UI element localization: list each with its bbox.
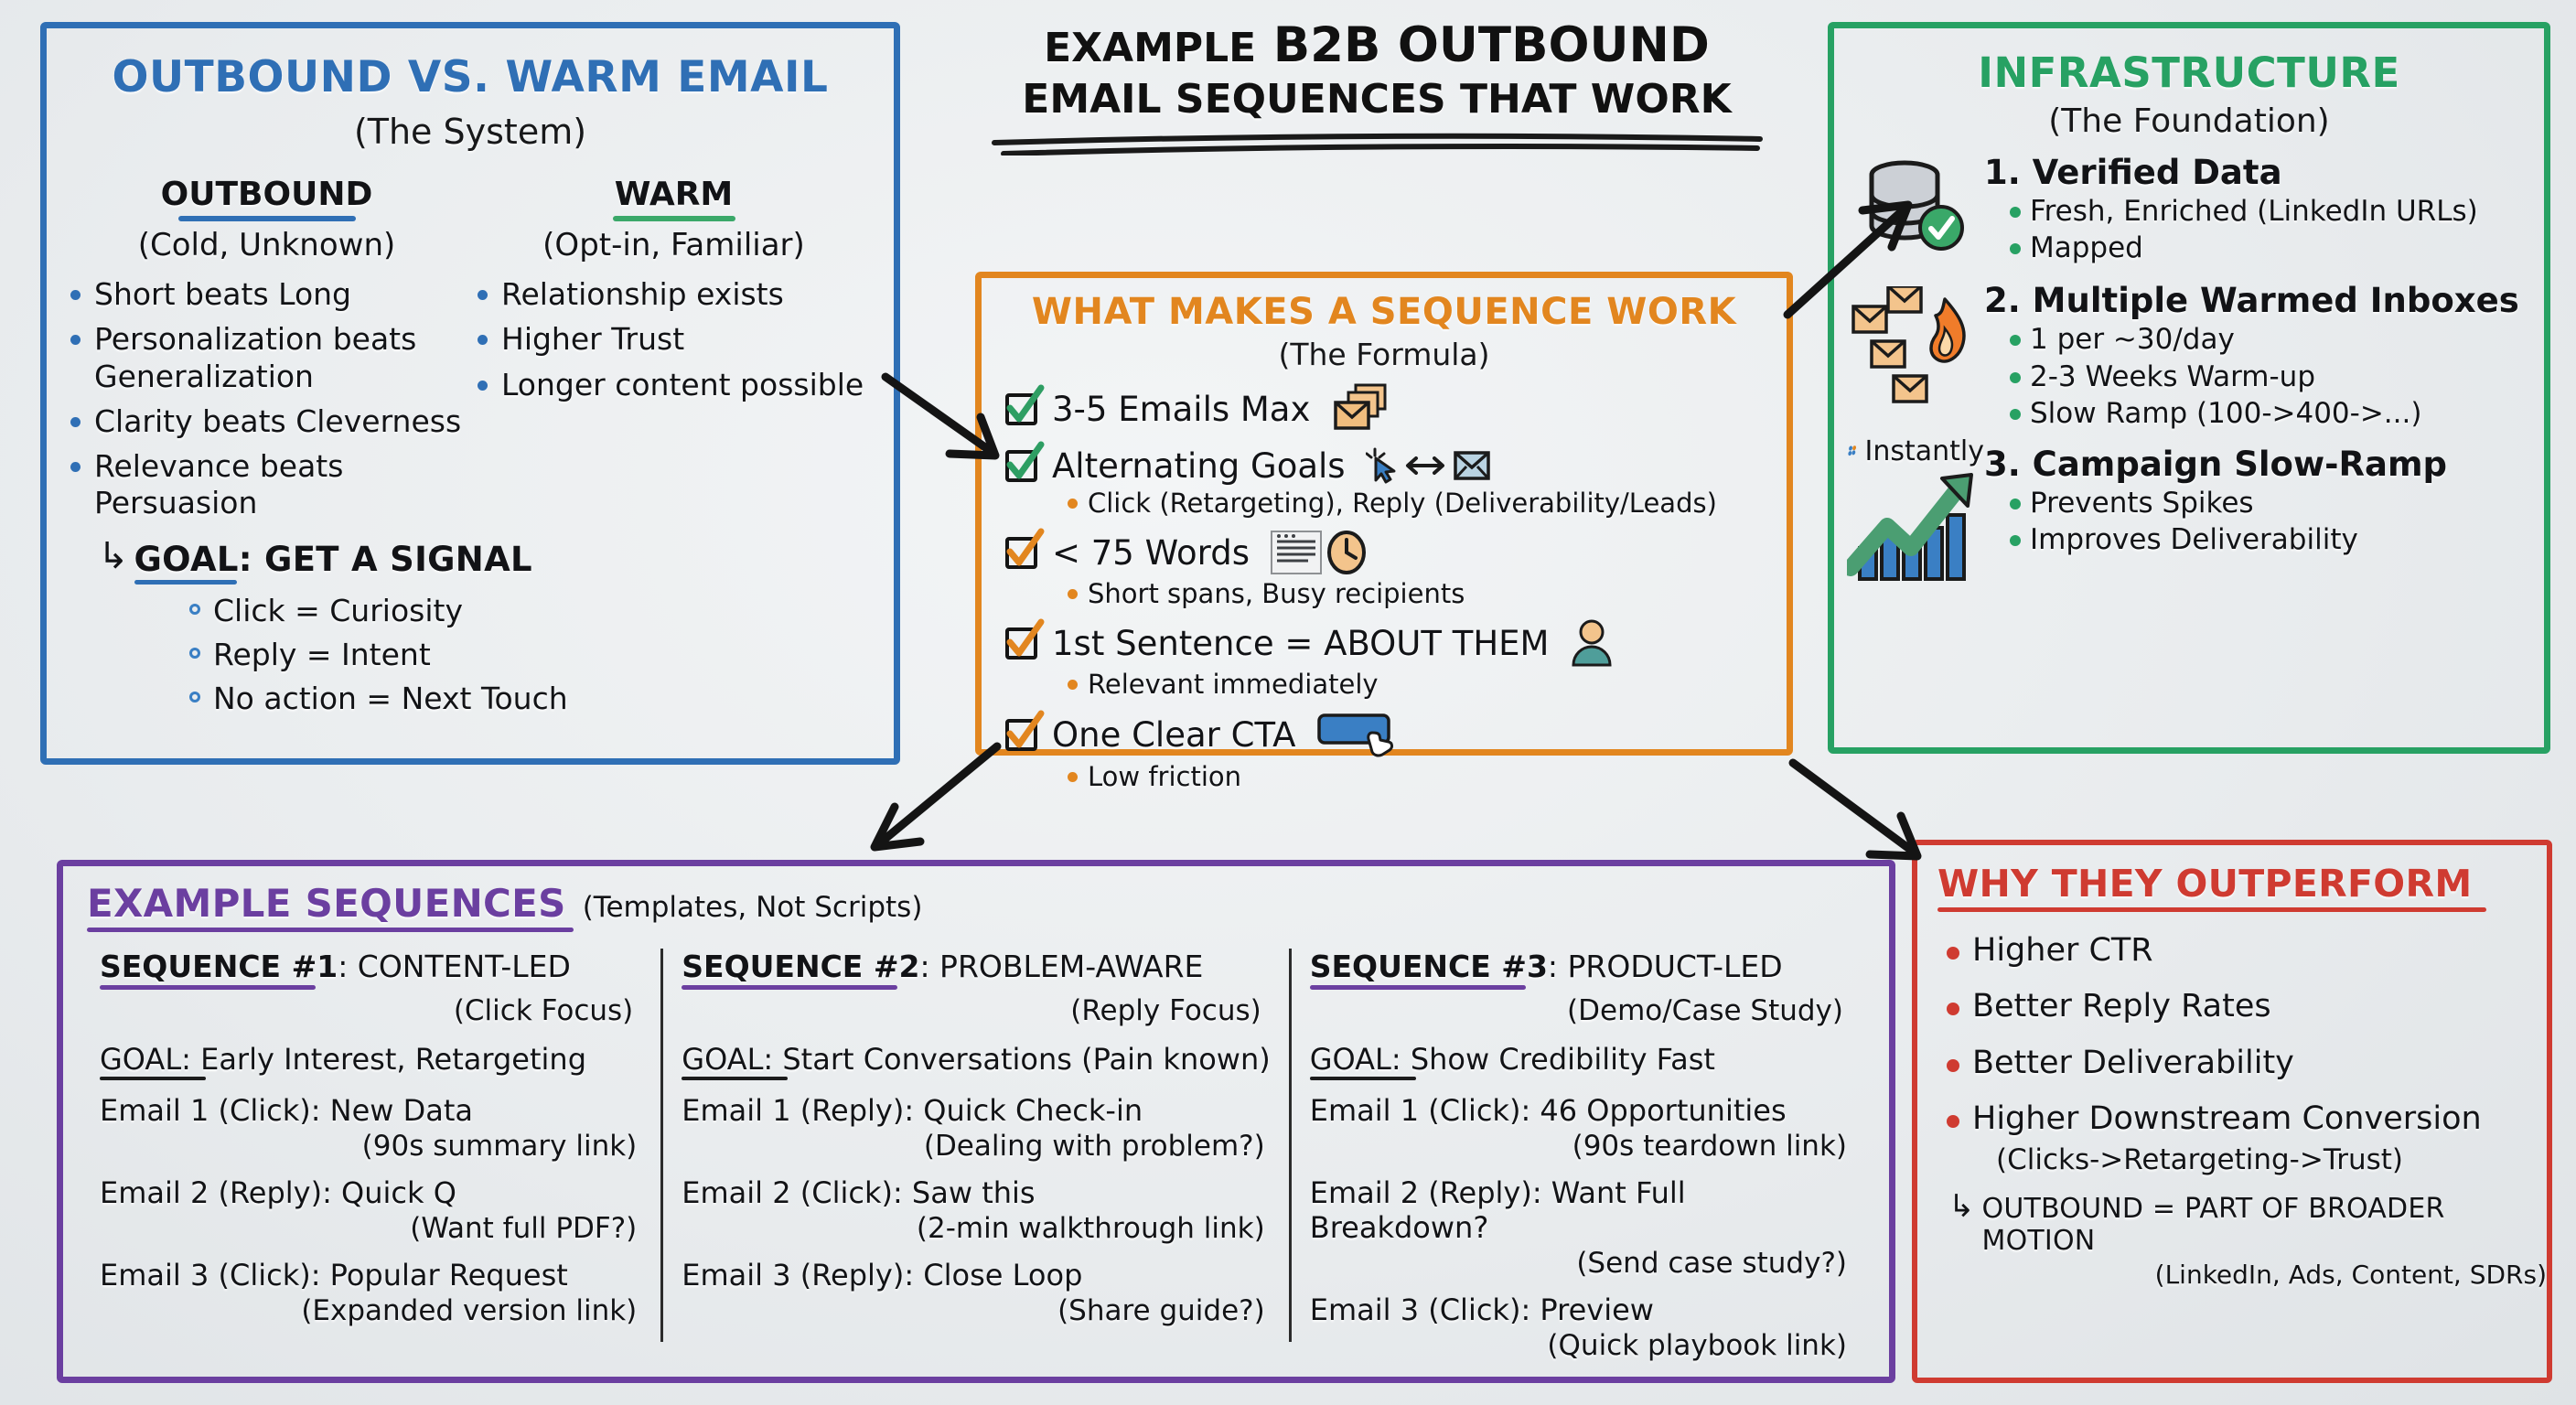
list-item: Low friction — [1062, 761, 1787, 792]
example-sequences-panel: EXAMPLE SEQUENCES (Templates, Not Script… — [57, 860, 1895, 1383]
sequence-title-label: SEQUENCE #1 — [100, 949, 338, 984]
sequences-heading-paren: (Templates, Not Scripts) — [583, 891, 923, 924]
sequence-title-underline — [682, 985, 897, 990]
infrastructure-panel: INFRASTRUCTURE (The Foundation) 1. Verif… — [1828, 22, 2550, 754]
sequence-title-label: SEQUENCE #3 — [1310, 949, 1548, 984]
sequences-heading-underline — [87, 928, 574, 932]
infrastructure-item: Instantly 3. Campaign Slow-Ramp Prevents… — [1834, 435, 2544, 588]
instantly-logo-icon — [1847, 435, 1858, 467]
sequence-email-line: Email 3 (Click): Popular Request — [100, 1258, 642, 1292]
warm-underline — [613, 216, 735, 221]
sequence-column-3: SEQUENCE #3: PRODUCT-LED (Demo/Case Stud… — [1289, 949, 1871, 1342]
document-clock-icon — [1270, 529, 1367, 576]
sequence-goal-label: GOAL — [100, 1042, 181, 1077]
list-item: Prevents Spikes — [2004, 487, 2544, 520]
sequence-title-rest: : CONTENT-LED — [338, 949, 571, 984]
arrow-hook-icon: ↳ — [98, 540, 129, 573]
arrow-center-to-why — [1784, 756, 1967, 893]
checklist-label: One Clear CTA — [1052, 715, 1296, 755]
arrow-center-to-infrastructure — [1775, 179, 1958, 326]
page-title: EXAMPLE B2B OUTBOUND EMAIL SEQUENCES THA… — [933, 20, 1820, 159]
list-item: Clarity beats Cleverness — [63, 403, 470, 440]
infrastructure-bullets: Fresh, Enriched (LinkedIn URLs) Mapped — [2004, 195, 2544, 265]
checklist-subnote-list: Relevant immediately — [1062, 669, 1787, 700]
sequence-title-rest: : PROBLEM-AWARE — [919, 949, 1203, 984]
checkbox-icon[interactable] — [1005, 537, 1037, 569]
outbound-vs-warm-panel: OUTBOUND VS. WARM EMAIL (The System) OUT… — [40, 22, 900, 765]
outbound-bullet-list: Short beats Long Personalization beats G… — [63, 276, 470, 522]
checklist-label: 3-5 Emails Max — [1052, 390, 1310, 429]
sequence-email-paren: (Share guide?) — [682, 1294, 1270, 1327]
checklist-label: Alternating Goals — [1052, 446, 1346, 486]
title-word-outbound: OUTBOUND — [1398, 17, 1710, 73]
why-they-outperform-panel: WHY THEY OUTPERFORM Higher CTR Better Re… — [1912, 840, 2552, 1383]
sequence-email-paren: (2-min walkthrough link) — [682, 1212, 1270, 1245]
arrow-center-to-sequences — [860, 741, 1061, 887]
why-footer-row: ↳ OUTBOUND = PART OF BROADER MOTION (Lin… — [1948, 1193, 2547, 1290]
right-panel-subheading: (The Foundation) — [1834, 102, 2544, 140]
checklist-label: < 75 Words — [1052, 533, 1250, 573]
sequence-email-paren: (90s teardown link) — [1310, 1130, 1852, 1163]
sequence-goal-underline — [682, 1077, 788, 1080]
arrow-left-to-center — [878, 366, 1043, 485]
sequence-column-2: SEQUENCE #2: PROBLEM-AWARE (Reply Focus)… — [660, 949, 1288, 1342]
checklist-item: < 75 Words — [1005, 529, 1787, 576]
list-item: Relevant immediately — [1062, 669, 1787, 700]
mid-panel-heading: WHAT MAKES A SEQUENCE WORK — [982, 291, 1787, 333]
title-word-example: EXAMPLE — [1044, 25, 1256, 71]
list-item: Personalization beats Generalization — [63, 321, 470, 395]
arrow-hook-icon: ↳ — [1948, 1193, 1975, 1221]
why-panel-heading: WHY THEY OUTPERFORM — [1937, 862, 2547, 906]
list-item: Click = Curiosity — [184, 592, 894, 629]
sequence-email-line: Email 3 (Click): Preview — [1310, 1292, 1852, 1327]
sequence-goal-text: : Start Conversations (Pain known) — [763, 1042, 1270, 1077]
infrastructure-item-title: 3. Campaign Slow-Ramp — [1984, 445, 2544, 484]
list-item: Short beats Long — [63, 276, 470, 313]
instantly-brand-block: Instantly — [1847, 435, 1984, 588]
list-item: Higher CTR — [1941, 932, 2547, 970]
sequence-focus: (Reply Focus) — [682, 994, 1270, 1027]
sequence-goal-label: GOAL — [1310, 1042, 1391, 1077]
sequences-heading: EXAMPLE SEQUENCES — [87, 881, 566, 926]
list-item: Click (Retargeting), Reply (Deliverabili… — [1062, 488, 1787, 519]
checklist-subnote-list: Short spans, Busy recipients — [1062, 578, 1787, 609]
sequence-goal-text: : Early Interest, Retargeting — [181, 1042, 586, 1077]
outbound-underline — [178, 216, 356, 221]
sequence-email-line: Email 1 (Click): New Data — [100, 1093, 642, 1128]
sequence-email-line: Email 2 (Reply): Want Full Breakdown? — [1310, 1175, 1852, 1245]
sequence-email-line: Email 3 (Reply): Close Loop — [682, 1258, 1270, 1292]
sequence-focus: (Click Focus) — [100, 994, 642, 1027]
outbound-column-subtitle: (Cold, Unknown) — [63, 227, 470, 263]
title-line2: EMAIL SEQUENCES THAT WORK — [1022, 76, 1731, 123]
outbound-column: OUTBOUND (Cold, Unknown) Short beats Lon… — [63, 176, 470, 531]
title-word-b2b: B2B — [1273, 17, 1381, 73]
infrastructure-item-title: 1. Verified Data — [1984, 153, 2544, 192]
what-makes-sequence-work-panel: WHAT MAKES A SEQUENCE WORK (The Formula)… — [975, 272, 1793, 756]
sequence-title-underline — [100, 985, 316, 990]
list-item: Reply = Intent — [184, 636, 894, 673]
list-item: Better Reply Rates — [1941, 988, 2547, 1025]
why-footer-paren: (LinkedIn, Ads, Content, SDRs) — [1982, 1260, 2548, 1290]
sequence-email-line: Email 2 (Reply): Quick Q — [100, 1175, 642, 1210]
goal-underline — [134, 580, 237, 585]
checkbox-icon[interactable] — [1005, 627, 1037, 660]
mid-panel-subheading: (The Formula) — [982, 337, 1787, 372]
list-item: Improves Deliverability — [2004, 523, 2544, 557]
list-item: No action = Next Touch — [184, 680, 894, 717]
sequence-email-paren: (90s summary link) — [100, 1130, 642, 1163]
instantly-label: Instantly — [1864, 435, 1984, 467]
sequence-email-paren: (Dealing with problem?) — [682, 1130, 1270, 1163]
list-item: Longer content possible — [470, 367, 877, 403]
sequence-focus: (Demo/Case Study) — [1310, 994, 1852, 1027]
checklist-item: 3-5 Emails Max — [1005, 382, 1787, 435]
outbound-column-title: OUTBOUND — [63, 176, 470, 213]
left-panel-heading: OUTBOUND VS. WARM EMAIL — [47, 52, 894, 102]
sequence-goal-label: GOAL — [682, 1042, 763, 1077]
warm-bullet-list: Relationship exists Higher Trust Longer … — [470, 276, 877, 403]
list-item: Mapped — [2004, 231, 2544, 265]
right-panel-heading: INFRASTRUCTURE — [1834, 48, 2544, 97]
checklist-item: 1st Sentence = ABOUT THEM — [1005, 619, 1787, 667]
sequence-email-paren: (Send case study?) — [1310, 1247, 1852, 1280]
sequence-email-line: Email 2 (Click): Saw this — [682, 1175, 1270, 1210]
infrastructure-item-title: 2. Multiple Warmed Inboxes — [1984, 281, 2544, 320]
goal-label: GOAL — [134, 540, 239, 579]
sequence-title-underline — [1310, 985, 1526, 990]
warm-column: WARM (Opt-in, Familiar) Relationship exi… — [470, 176, 877, 531]
sequence-email-line: Email 1 (Click): 46 Opportunities — [1310, 1093, 1852, 1128]
list-item: Relationship exists — [470, 276, 877, 313]
sequence-email-paren: (Quick playbook link) — [1310, 1329, 1852, 1362]
list-item: Higher Downstream Conversion — [1941, 1100, 2547, 1138]
stacked-envelopes-icon — [1330, 382, 1390, 435]
left-panel-subheading: (The System) — [47, 112, 894, 152]
checklist-label: 1st Sentence = ABOUT THEM — [1052, 624, 1549, 663]
checklist-subnote-list: Low friction — [1062, 761, 1787, 792]
list-item: Higher Trust — [470, 321, 877, 358]
click-reply-icon — [1366, 445, 1494, 486]
growth-chart-icon — [1847, 469, 1982, 585]
sequence-goal-text: : Show Credibility Fast — [1391, 1042, 1715, 1077]
sequence-column-1: SEQUENCE #1: CONTENT-LED (Click Focus) G… — [81, 949, 660, 1342]
list-item: Better Deliverability — [1941, 1045, 2547, 1082]
list-item: Slow Ramp (100->400->...) — [2004, 397, 2544, 431]
sequence-title-rest: : PRODUCT-LED — [1548, 949, 1783, 984]
list-item: Short spans, Busy recipients — [1062, 578, 1787, 609]
why-bullet-list: Higher CTR Better Reply Rates Better Del… — [1941, 932, 2547, 1138]
list-item: 1 per ~30/day — [2004, 323, 2544, 357]
sequence-email-paren: (Expanded version link) — [100, 1294, 642, 1327]
why-footer-text: OUTBOUND = PART OF BROADER MOTION — [1982, 1193, 2548, 1257]
why-heading-underline — [1937, 907, 2486, 912]
checklist-item: One Clear CTA — [1005, 710, 1787, 759]
sequence-goal-underline — [1310, 1077, 1416, 1080]
sequence-email-line: Email 1 (Reply): Quick Check-in — [682, 1093, 1270, 1128]
list-item: Relevance beats Persuasion — [63, 448, 470, 522]
checklist-item: Alternating Goals — [1005, 445, 1787, 486]
goal-bullet-list: Click = Curiosity Reply = Intent No acti… — [184, 592, 894, 718]
infrastructure-bullets: Prevents Spikes Improves Deliverability — [2004, 487, 2544, 557]
sequence-email-paren: (Want full PDF?) — [100, 1212, 642, 1245]
title-underline-swoosh — [991, 132, 1764, 156]
list-item: Fresh, Enriched (LinkedIn URLs) — [2004, 195, 2544, 229]
instantly-brand: Instantly — [1847, 435, 1984, 467]
checklist-subnote-list: Click (Retargeting), Reply (Deliverabili… — [1062, 488, 1787, 519]
why-bullet-paren: (Clicks->Retargeting->Trust) — [1996, 1143, 2547, 1176]
sequence-title-label: SEQUENCE #2 — [682, 949, 919, 984]
warm-column-title: WARM — [470, 176, 877, 213]
person-icon — [1569, 619, 1615, 667]
goal-text: : GET A SIGNAL — [239, 540, 532, 579]
left-goal-row: ↳ GOAL : GET A SIGNAL — [98, 540, 894, 585]
sequence-goal-underline — [100, 1077, 206, 1080]
list-item: 2-3 Weeks Warm-up — [2004, 360, 2544, 394]
warm-column-subtitle: (Opt-in, Familiar) — [470, 227, 877, 263]
cta-button-cursor-icon[interactable] — [1316, 710, 1408, 759]
infrastructure-bullets: 1 per ~30/day 2-3 Weeks Warm-up Slow Ram… — [2004, 323, 2544, 431]
